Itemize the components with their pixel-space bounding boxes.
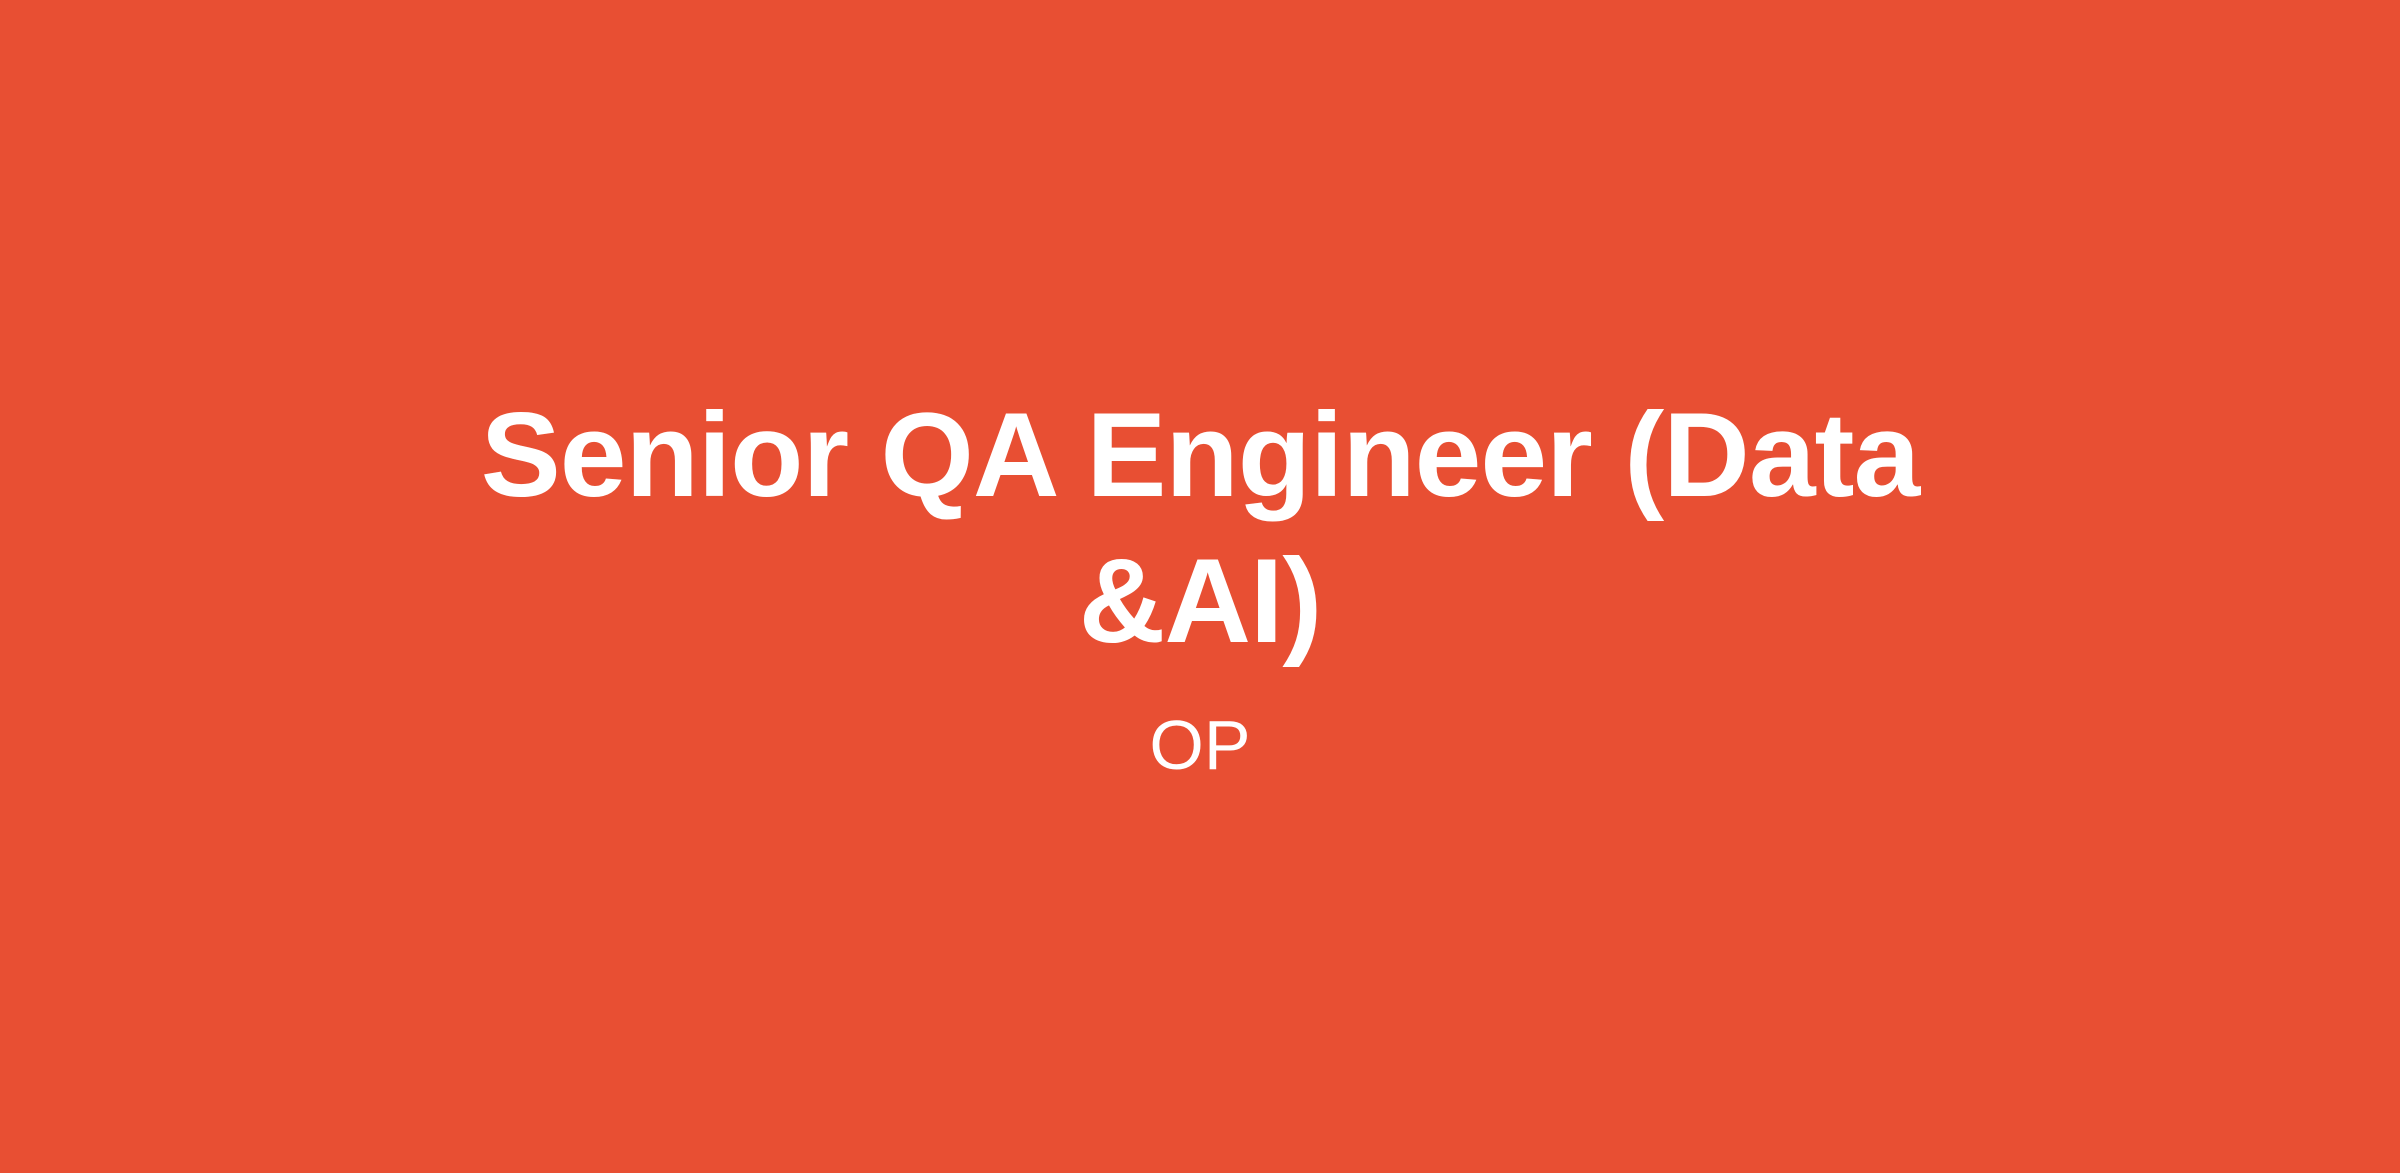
- page-subtitle: OP: [450, 703, 1950, 787]
- hero-content: Senior QA Engineer (Data &AI) OP: [450, 382, 1950, 787]
- hero-banner: Senior QA Engineer (Data &AI) OP: [0, 0, 2400, 1173]
- page-title: Senior QA Engineer (Data &AI): [450, 382, 1950, 675]
